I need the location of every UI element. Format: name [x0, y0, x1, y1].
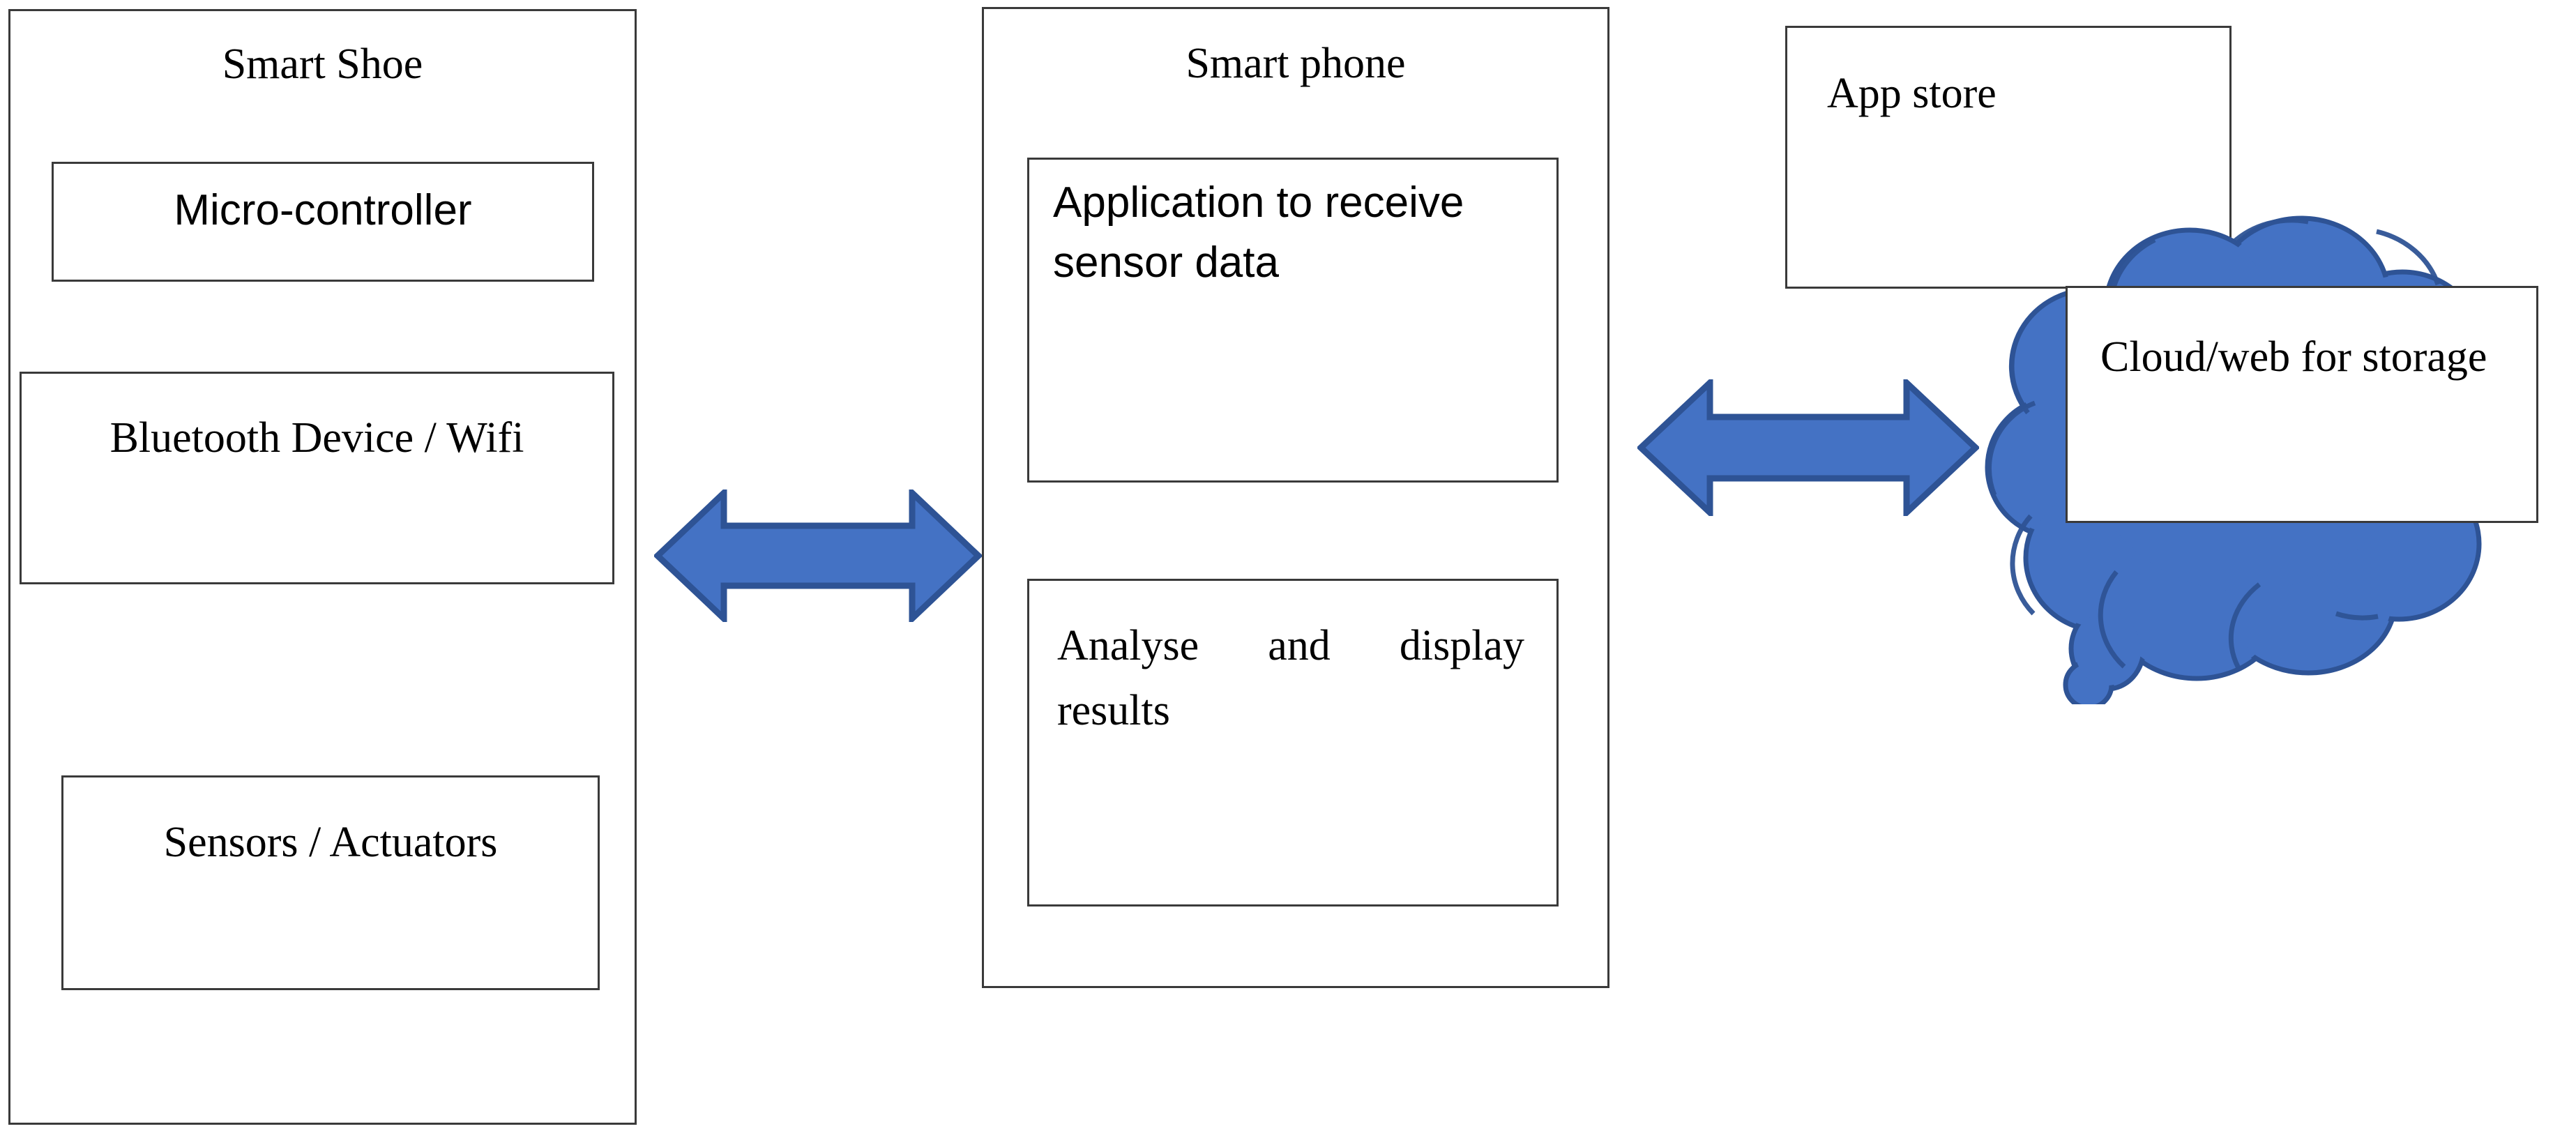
- bluetooth-wifi-box[interactable]: [20, 372, 614, 584]
- arrow-shoe-to-phone[interactable]: [654, 490, 982, 622]
- bluetooth-wifi-label: Bluetooth Device / Wifi: [20, 410, 614, 466]
- cloud-storage-label: Cloud/web for storage: [2100, 325, 2519, 390]
- micro-controller-label: Micro-controller: [52, 183, 594, 239]
- diagram-canvas: Smart Shoe Micro-controller Bluetooth De…: [0, 0, 2576, 1138]
- analyse-display-label: Analyse and display results: [1057, 614, 1524, 808]
- sensors-actuators-box[interactable]: [61, 775, 600, 990]
- smart-phone-title: Smart phone: [984, 40, 1607, 88]
- sensors-actuators-label: Sensors / Actuators: [61, 814, 600, 871]
- cloud-storage-box[interactable]: [2066, 286, 2538, 523]
- app-store-label: App store: [1827, 66, 2218, 122]
- receive-sensor-data-label: Application to receive sensor data: [1053, 173, 1541, 292]
- smart-shoe-title: Smart Shoe: [10, 40, 635, 89]
- arrow-phone-to-cloud[interactable]: [1637, 379, 1979, 516]
